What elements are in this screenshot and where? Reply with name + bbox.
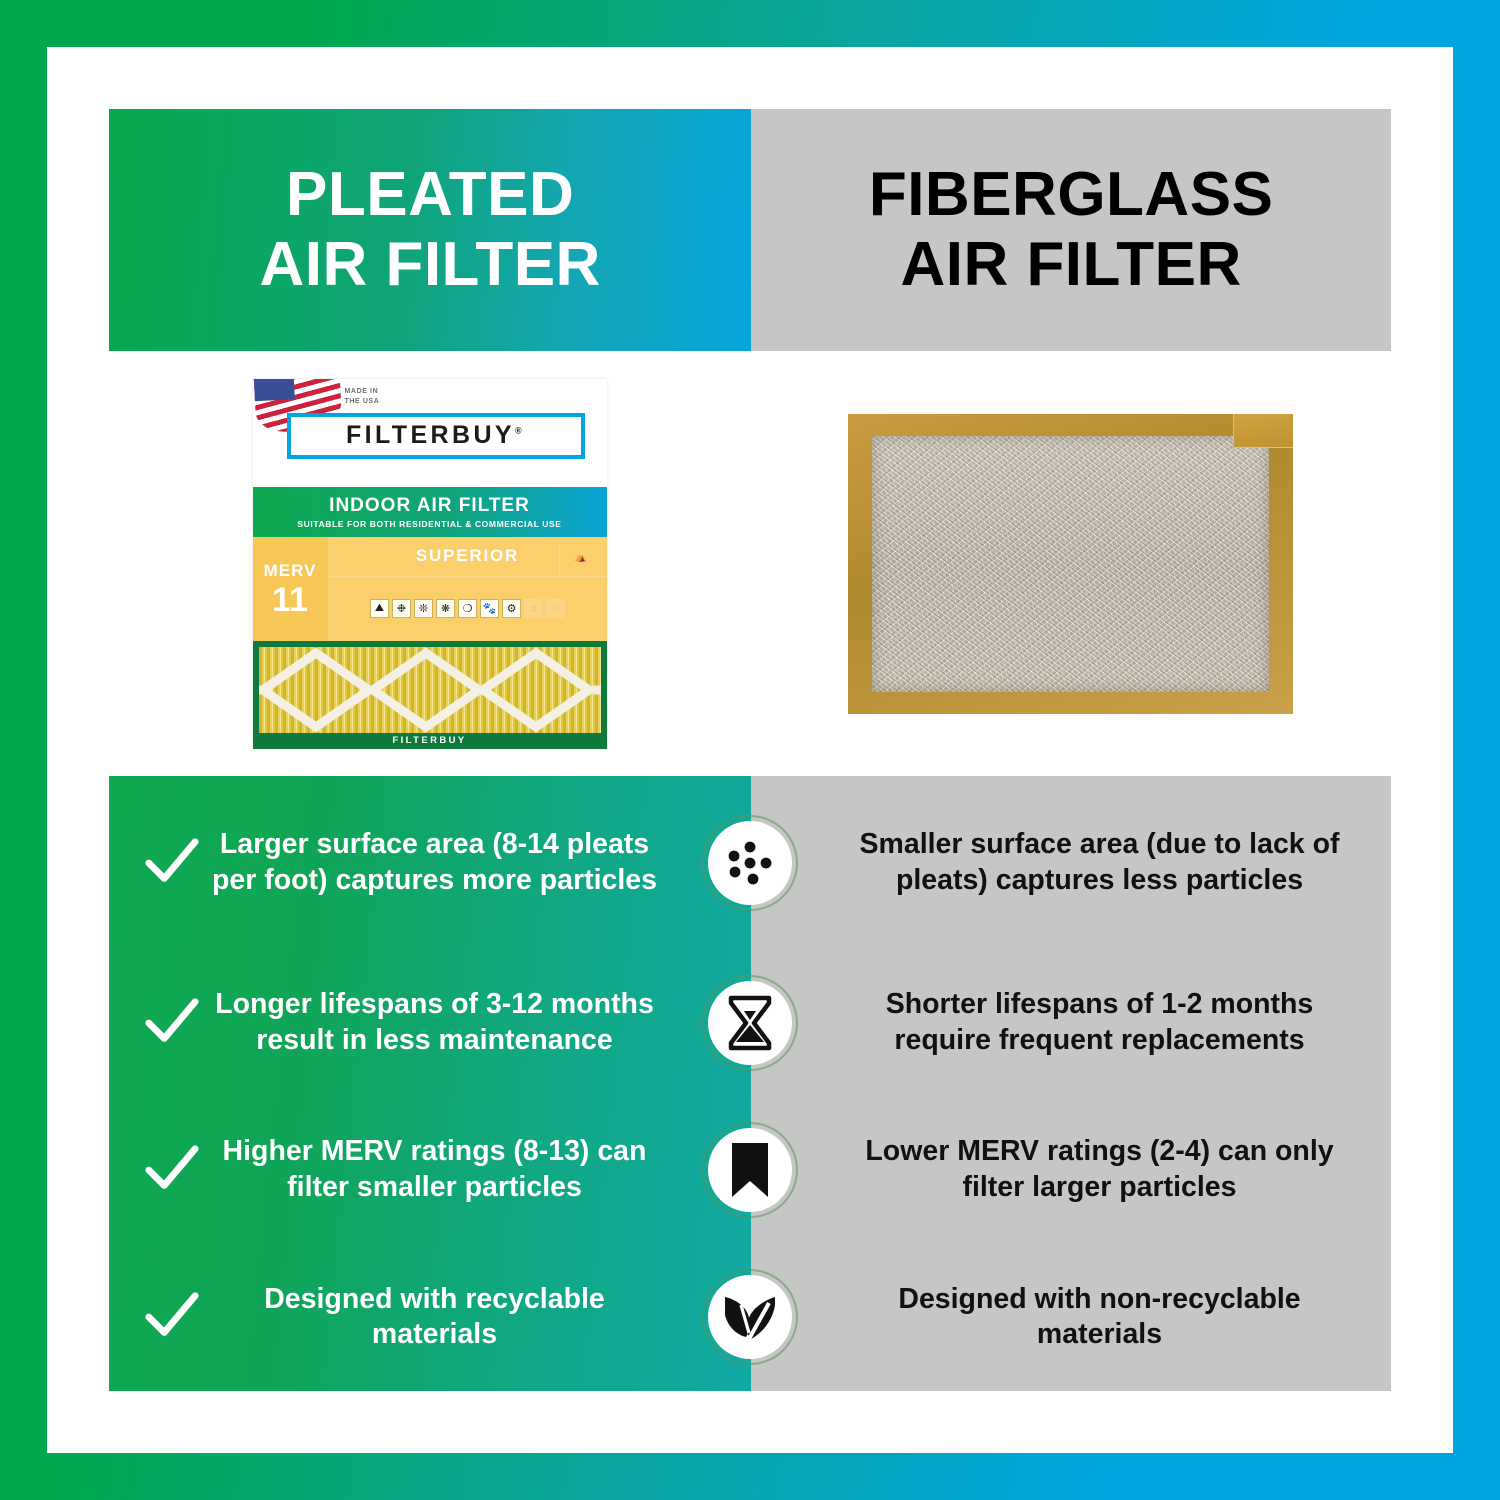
band-line2: SUITABLE FOR BOTH RESIDENTIAL & COMMERCI… [297,519,561,529]
check-icon [143,834,201,892]
pet-dander-icon: 🐾 [480,599,499,618]
box-merv-badge: MERV 11 [253,537,329,641]
row2-left-text: Longer lifespans of 3-12 months result i… [207,987,662,1059]
pollen-icon: ❊ [414,599,433,618]
check-icon [143,1141,201,1199]
row3-right-cell: Lower MERV ratings (2-4) can only filter… [750,1097,1391,1244]
made-in-usa-text: MADE IN THE USA [345,387,380,408]
header-pleated: PLEATED AIR FILTER [109,109,751,351]
comparison-row: Designed with recyclable materials [109,1244,1391,1391]
row1-right-text: Smaller surface area (due to lack of ple… [842,827,1357,899]
box-capture-icons-row: ⛰ ❉ ❊ ❋ ❍ 🐾 ⚙ ○ ◌ [329,577,607,641]
row1-left-text: Larger surface area (8-14 pleats per foo… [207,827,662,899]
white-card: PLEATED AIR FILTER FIBERGLASS AIR FILTER [47,47,1453,1453]
merv-label: MERV [264,561,317,581]
bookmark-icon-badge [702,1122,798,1218]
row2-right-cell: Shorter lifespans of 1-2 months require … [750,950,1391,1097]
header-fiberglass-line1: FIBERGLASS [869,160,1274,230]
badge-disc [708,821,792,905]
dust-icon: ⛰ [370,599,389,618]
merv-value: 11 [272,583,308,617]
box-indoor-air-filter-band: INDOOR AIR FILTER SUITABLE FOR BOTH RESI… [253,487,607,537]
made-in-line2: THE USA [345,397,380,408]
header-pleated-line2: AIR FILTER [259,230,600,300]
row4-right-cell: Designed with non-recyclable materials [750,1244,1391,1391]
bacteria-icon: ❍ [458,599,477,618]
leaf-icon [719,1289,781,1345]
row4-right-text: Designed with non-recyclable materials [842,1282,1357,1354]
comparison-row: Higher MERV ratings (8-13) can filter sm… [109,1097,1391,1244]
infographic-content: PLEATED AIR FILTER FIBERGLASS AIR FILTER [109,109,1391,1391]
badge-disc [708,1275,792,1359]
particles-icon-badge [702,815,798,911]
badge-disc [708,1128,792,1212]
row3-right-text: Lower MERV ratings (2-4) can only filter… [842,1134,1357,1206]
pleat-texture [259,647,601,733]
header-fiberglass-title: FIBERGLASS AIR FILTER [869,160,1274,300]
wire-mesh-overlay [259,647,601,733]
fiberglass-media-texture [872,436,1269,692]
band-line1: INDOOR AIR FILTER [329,495,530,517]
mold-spore-icon: ❋ [436,599,455,618]
box-footer-brand-bar: FILTERBUY [253,733,607,749]
header-pleated-title: PLEATED AIR FILTER [259,160,600,300]
comparison-band: Larger surface area (8-14 pleats per foo… [109,776,1391,1391]
check-icon [143,994,201,1052]
comparison-row: Longer lifespans of 3-12 months result i… [109,950,1391,1097]
bookmark-icon [728,1141,772,1199]
comparison-rows: Larger surface area (8-14 pleats per foo… [109,776,1391,1391]
row2-right-text: Shorter lifespans of 1-2 months require … [842,987,1357,1059]
row3-left-text: Higher MERV ratings (8-13) can filter sm… [207,1134,662,1206]
hourglass-icon [723,994,777,1052]
header-pleated-line1: PLEATED [259,160,600,230]
product-cell-pleated: MADE IN THE USA FILTERBUY® INDOOR AIR FI… [109,351,750,776]
certification-seal-icon: ⛺ [559,541,603,575]
odor-icon-inactive: ◌ [546,599,565,618]
leaf-icon-badge [702,1269,798,1365]
filterbuy-logo: FILTERBUY® [287,413,585,459]
footer-brand-label: FILTERBUY [392,735,466,746]
row3-left-cell: Higher MERV ratings (8-13) can filter sm… [109,1097,750,1244]
comparison-row: Larger surface area (8-14 pleats per foo… [109,776,1391,950]
header-band: PLEATED AIR FILTER FIBERGLASS AIR FILTER [109,109,1391,351]
product-image-band: MADE IN THE USA FILTERBUY® INDOOR AIR FI… [109,351,1391,776]
box-pleat-media: FILTERBUY [253,641,607,749]
row1-right-cell: Smaller surface area (due to lack of ple… [750,776,1391,950]
header-fiberglass: FIBERGLASS AIR FILTER [751,109,1391,351]
filterbuy-box-image: MADE IN THE USA FILTERBUY® INDOOR AIR FI… [253,379,607,749]
badge-disc [708,981,792,1065]
virus-icon-inactive: ○ [524,599,543,618]
row4-left-text: Designed with recyclable materials [207,1282,662,1354]
fiberglass-filter-image [848,414,1293,714]
outer-gradient-frame: PLEATED AIR FILTER FIBERGLASS AIR FILTER [0,0,1500,1500]
made-in-line1: MADE IN [345,387,380,398]
insect-icon: ❉ [392,599,411,618]
header-fiberglass-line2: AIR FILTER [869,230,1274,300]
row4-left-cell: Designed with recyclable materials [109,1244,750,1391]
particles-icon [719,832,781,894]
row2-left-cell: Longer lifespans of 3-12 months result i… [109,950,750,1097]
check-icon [143,1288,201,1346]
row1-left-cell: Larger surface area (8-14 pleats per foo… [109,776,750,950]
tier-label: SUPERIOR [416,546,519,566]
filterbuy-wordmark: FILTERBUY® [346,421,525,450]
smoke-icon: ⚙ [502,599,521,618]
hourglass-icon-badge [702,975,798,1071]
product-cell-fiberglass [750,351,1391,776]
box-top-section: MADE IN THE USA FILTERBUY® [253,379,607,487]
fiberglass-frame-corner-tab [1233,414,1293,448]
